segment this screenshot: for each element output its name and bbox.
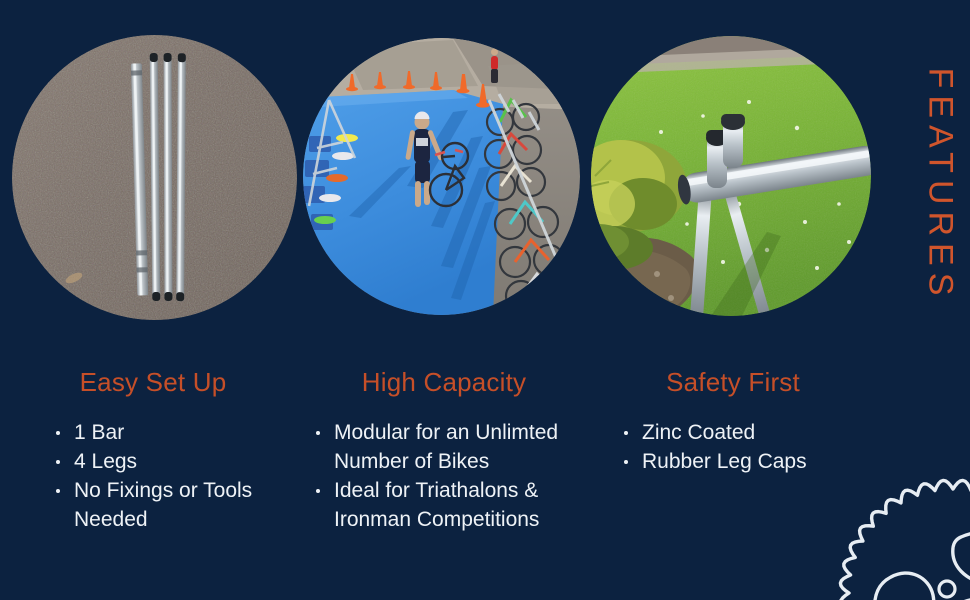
features-slide: Easy Set Up 1 Bar 4 Legs No Fixings or T… — [0, 0, 970, 600]
list-item: No Fixings or Tools Needed — [52, 476, 300, 534]
list-item: Ideal for Triathalons & Ironman Competit… — [312, 476, 594, 534]
feature-heading: High Capacity — [300, 368, 588, 398]
features-side-label: FEATURES — [914, 18, 966, 358]
feature-column-easy-set-up: Easy Set Up 1 Bar 4 Legs No Fixings or T… — [8, 0, 298, 600]
bike-rack-parts-photo — [12, 35, 297, 320]
feature-bullet-list: Zinc Coated Rubber Leg Caps — [620, 418, 878, 476]
features-side-label-text: FEATURES — [923, 68, 957, 303]
feature-bullet-list: Modular for an Unlimted Number of Bikes … — [312, 418, 594, 534]
feature-column-safety-first: Safety First Zinc Coated Rubber Leg Caps — [588, 0, 878, 600]
feature-bullet-list: 1 Bar 4 Legs No Fixings or Tools Needed — [52, 418, 300, 534]
list-item: 4 Legs — [52, 447, 300, 476]
feature-column-high-capacity: High Capacity Modular for an Unlimted Nu… — [300, 0, 588, 600]
feature-heading: Easy Set Up — [8, 368, 298, 398]
list-item: Rubber Leg Caps — [620, 447, 878, 476]
list-item: Modular for an Unlimted Number of Bikes — [312, 418, 594, 476]
feature-columns: Easy Set Up 1 Bar 4 Legs No Fixings or T… — [0, 0, 888, 600]
list-item: 1 Bar — [52, 418, 300, 447]
triathlon-transition-photo — [303, 38, 580, 315]
feature-heading: Safety First — [588, 368, 878, 398]
list-item: Zinc Coated — [620, 418, 878, 447]
bike-rack-close-up-photo — [591, 36, 871, 316]
